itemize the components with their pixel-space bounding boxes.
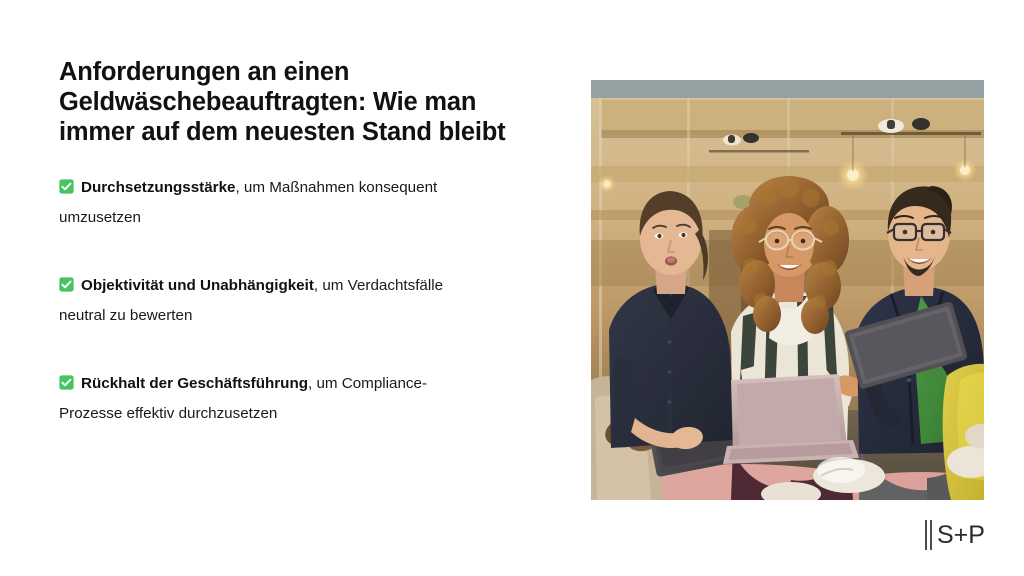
logo-bars-icon <box>925 520 932 550</box>
list-item: Durchsetzungsstärke, um Maßnahmen konseq… <box>59 173 489 233</box>
list-item: Objektivität und Unabhängigkeit, um Verd… <box>59 271 489 331</box>
sp-logo: S+P <box>925 516 985 554</box>
logo-text: S+P <box>937 520 985 550</box>
white-heavy-check-mark-icon <box>59 175 74 190</box>
benefits-list: Durchsetzungsstärke, um Maßnahmen konseq… <box>59 173 534 429</box>
list-item-bold-label: Durchsetzungsstärke <box>81 179 235 196</box>
content-column: Anforderungen an einen Geldwäschebeauftr… <box>59 57 534 429</box>
white-heavy-check-mark-icon <box>59 371 74 386</box>
list-item-bold-label: Objektivität und Unabhängigkeit <box>81 277 314 294</box>
list-item: Rückhalt der Geschäftsführung, um Compli… <box>59 369 489 429</box>
slide-root: Anforderungen an einen Geldwäschebeauftr… <box>0 0 1024 576</box>
page-title: Anforderungen an einen Geldwäschebeauftr… <box>59 57 534 147</box>
list-item-bold-label: Rückhalt der Geschäftsführung <box>81 375 308 392</box>
white-heavy-check-mark-icon <box>59 273 74 288</box>
team-meeting-photo <box>591 80 984 500</box>
